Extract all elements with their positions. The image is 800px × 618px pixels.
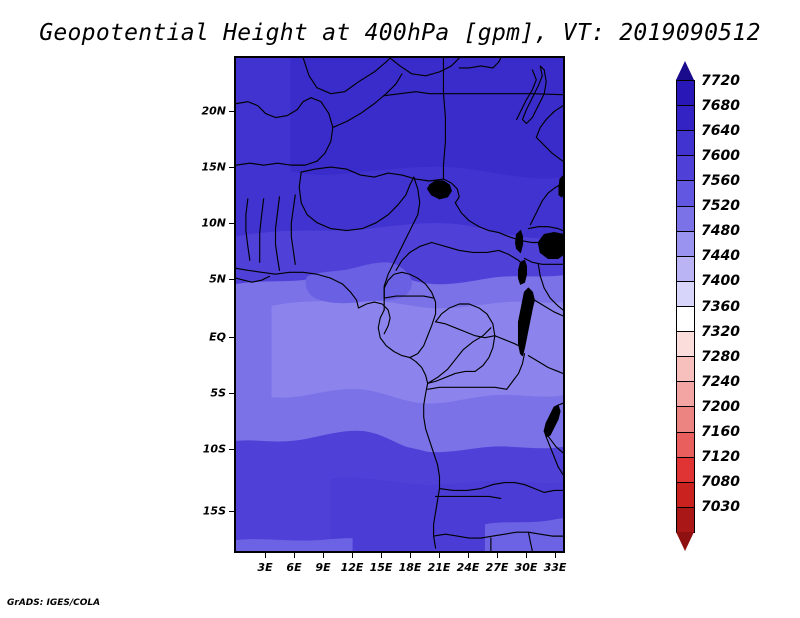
x-axis-label-27e: 27E [486, 561, 509, 574]
colorbar-band-7640 [676, 130, 695, 157]
y-tick-5s [229, 393, 234, 394]
x-axis-label-18e: 18E [399, 561, 422, 574]
x-axis-label-9e: 9E [315, 561, 330, 574]
colorbar-label-7320: 7320 [701, 324, 740, 340]
y-tick-10s [229, 449, 234, 450]
y-tick-5n [229, 279, 234, 280]
x-tick-3e [265, 553, 266, 558]
colorbar-band-7440 [676, 256, 695, 283]
x-tick-18e [410, 553, 411, 558]
y-axis-label-15n: 15N [194, 161, 226, 174]
colorbar-label-7600: 7600 [701, 148, 740, 164]
colorbar-label-7360: 7360 [701, 299, 740, 315]
x-axis-label-6e: 6E [286, 561, 301, 574]
y-axis-label-eq: EQ [194, 331, 226, 344]
map-plot-area[interactable] [234, 56, 565, 553]
colorbar-label-7520: 7520 [701, 198, 740, 214]
colorbar-label-7080: 7080 [701, 474, 740, 490]
y-axis-label-5n: 5N [194, 273, 226, 286]
colorbar-band-7600 [676, 155, 695, 182]
x-tick-15e [381, 553, 382, 558]
colorbar-top-arrow [676, 61, 694, 80]
x-tick-12e [352, 553, 353, 558]
colorbar-band-7160 [676, 432, 695, 459]
colorbar-band-7320 [676, 331, 695, 358]
colorbar-band-7280 [676, 356, 695, 383]
colorbar-label-7680: 7680 [701, 98, 740, 114]
colorbar-band-7680 [676, 105, 695, 132]
colorbar-band-7240 [676, 381, 695, 408]
colorbar-band-7520 [676, 206, 695, 233]
x-tick-24e [468, 553, 469, 558]
y-tick-20n [229, 111, 234, 112]
y-tick-eq [229, 337, 234, 338]
colorbar-band-7400 [676, 281, 695, 308]
x-tick-21e [439, 553, 440, 558]
y-tick-15n [229, 167, 234, 168]
colorbar-label-7030: 7030 [701, 499, 740, 515]
y-axis-label-5s: 5S [194, 387, 226, 400]
x-tick-33e [555, 553, 556, 558]
colorbar-bottom-arrow [676, 532, 694, 551]
colorbar-band-7360 [676, 306, 695, 333]
x-axis-label-15e: 15E [370, 561, 393, 574]
y-axis-label-10n: 10N [194, 217, 226, 230]
y-tick-15s [229, 511, 234, 512]
colorbar-label-7160: 7160 [701, 424, 740, 440]
colorbar-label-7480: 7480 [701, 223, 740, 239]
colorbar[interactable] [676, 80, 695, 532]
colorbar-band-7560 [676, 180, 695, 207]
x-axis-label-30e: 30E [515, 561, 538, 574]
x-tick-27e [497, 553, 498, 558]
colorbar-label-7720: 7720 [701, 73, 740, 89]
colorbar-label-7640: 7640 [701, 123, 740, 139]
colorbar-band-7480 [676, 231, 695, 258]
y-tick-10n [229, 223, 234, 224]
y-axis-label-20n: 20N [194, 105, 226, 118]
colorbar-label-7120: 7120 [701, 449, 740, 465]
x-axis-label-3e: 3E [257, 561, 272, 574]
x-tick-9e [323, 553, 324, 558]
map-shaded-field [236, 58, 563, 551]
colorbar-band-7030 [676, 507, 695, 534]
colorbar-band-7200 [676, 406, 695, 433]
colorbar-label-7240: 7240 [701, 374, 740, 390]
page-title: Geopotential Height at 400hPa [gpm], VT:… [0, 20, 800, 46]
colorbar-label-7400: 7400 [701, 273, 740, 289]
x-axis-label-33e: 33E [544, 561, 567, 574]
x-axis-label-21e: 21E [428, 561, 451, 574]
colorbar-band-7120 [676, 457, 695, 484]
x-axis-label-12e: 12E [341, 561, 364, 574]
colorbar-label-7440: 7440 [701, 248, 740, 264]
colorbar-band-7720 [676, 80, 695, 107]
x-tick-6e [294, 553, 295, 558]
colorbar-label-7560: 7560 [701, 173, 740, 189]
y-axis-label-10s: 10S [194, 443, 226, 456]
colorbar-label-7200: 7200 [701, 399, 740, 415]
y-axis-label-15s: 15S [194, 505, 226, 518]
colorbar-label-7280: 7280 [701, 349, 740, 365]
x-axis-label-24e: 24E [457, 561, 480, 574]
x-tick-30e [526, 553, 527, 558]
footer-credit: GrADS: IGES/COLA [7, 598, 100, 608]
colorbar-band-7080 [676, 482, 695, 509]
